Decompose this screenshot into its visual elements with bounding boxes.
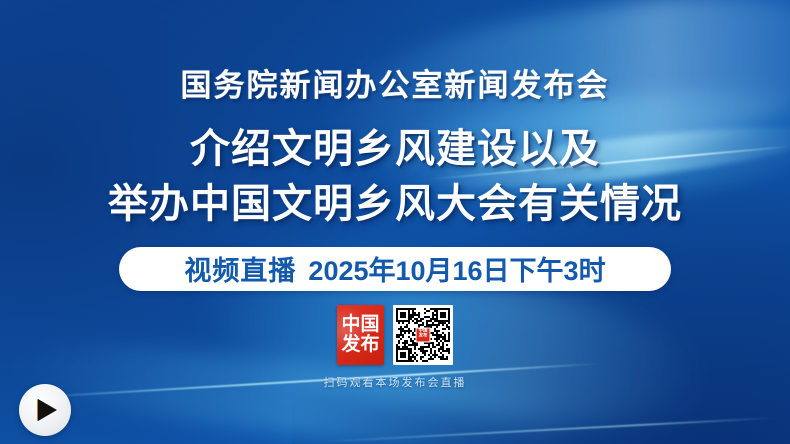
live-datetime: 2025年10月16日下午3时 <box>308 249 605 288</box>
china-release-logo: 中国 发布 <box>337 305 384 365</box>
play-icon <box>38 399 57 421</box>
live-label: 视频直播 <box>184 249 296 288</box>
livestream-poster: 国务院新闻办公室新闻发布会 介绍文明乡风建设以及 举办中国文明乡风大会有关情况 … <box>0 0 790 444</box>
qr-code[interactable]: 中国 发布 <box>393 305 453 365</box>
brand-logo-line-2: 发布 <box>341 335 379 355</box>
headline-line-1: 介绍文明乡风建设以及 <box>108 125 682 174</box>
headline-line-2: 举办中国文明乡风大会有关情况 <box>108 180 682 229</box>
brand-logo-line-1: 中国 <box>341 315 379 335</box>
headline: 介绍文明乡风建设以及 举办中国文明乡风大会有关情况 <box>108 125 682 229</box>
poster-content: 国务院新闻办公室新闻发布会 介绍文明乡风建设以及 举办中国文明乡风大会有关情况 … <box>0 0 790 444</box>
qr-center-logo: 中国 发布 <box>416 327 431 342</box>
page-title: 国务院新闻办公室新闻发布会 <box>181 60 610 105</box>
live-info-badge: 视频直播 2025年10月16日下午3时 <box>119 247 671 291</box>
qr-center-line-2: 发布 <box>419 335 428 340</box>
play-button[interactable] <box>19 384 71 436</box>
scan-caption: 扫码观看本场发布会直播 <box>324 374 467 390</box>
brand-and-qr-row: 中国 发布 中国 发布 <box>337 305 453 365</box>
